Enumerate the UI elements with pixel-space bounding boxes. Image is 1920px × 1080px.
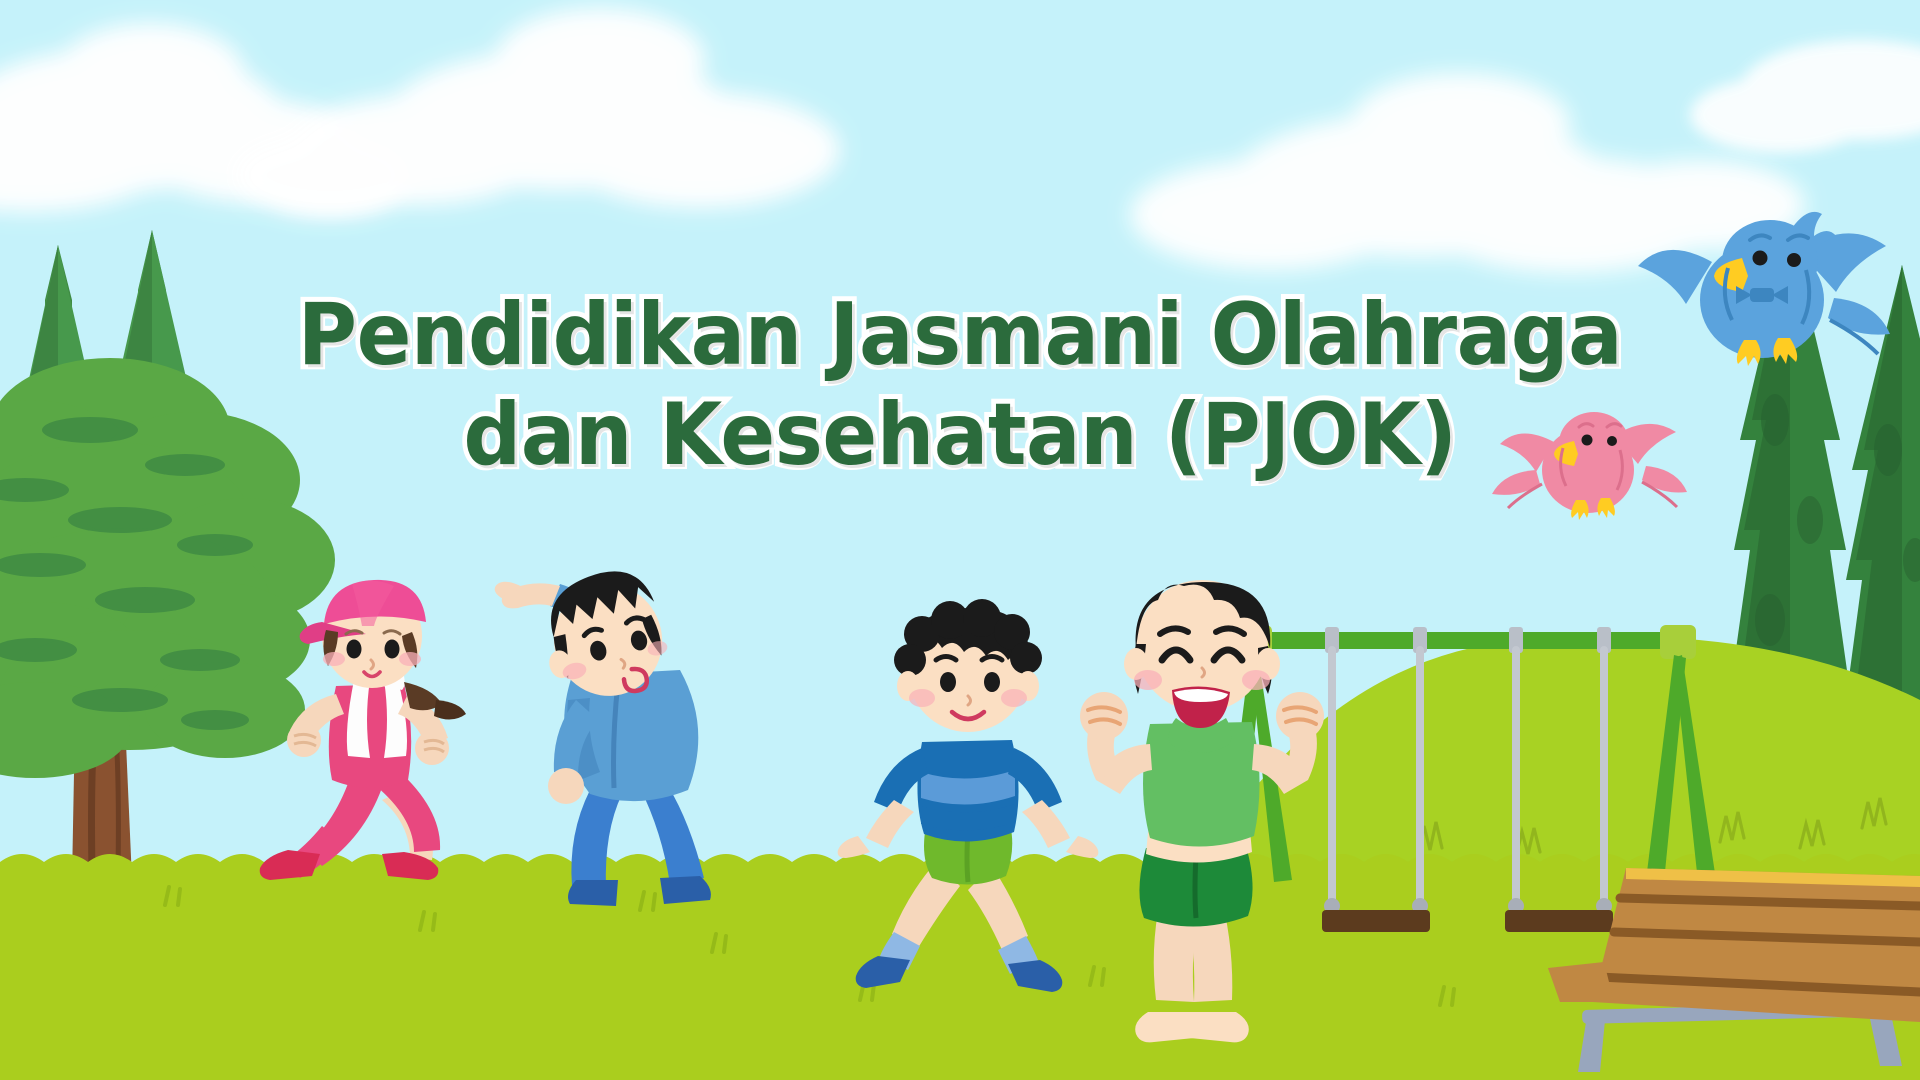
scene-illustration — [0, 0, 1920, 1080]
banner-scene: Pendidikan Jasmani Olahraga dan Kesehata… — [0, 0, 1920, 1080]
swing-seat-left — [1322, 910, 1430, 932]
swing-seat-right — [1505, 910, 1613, 932]
